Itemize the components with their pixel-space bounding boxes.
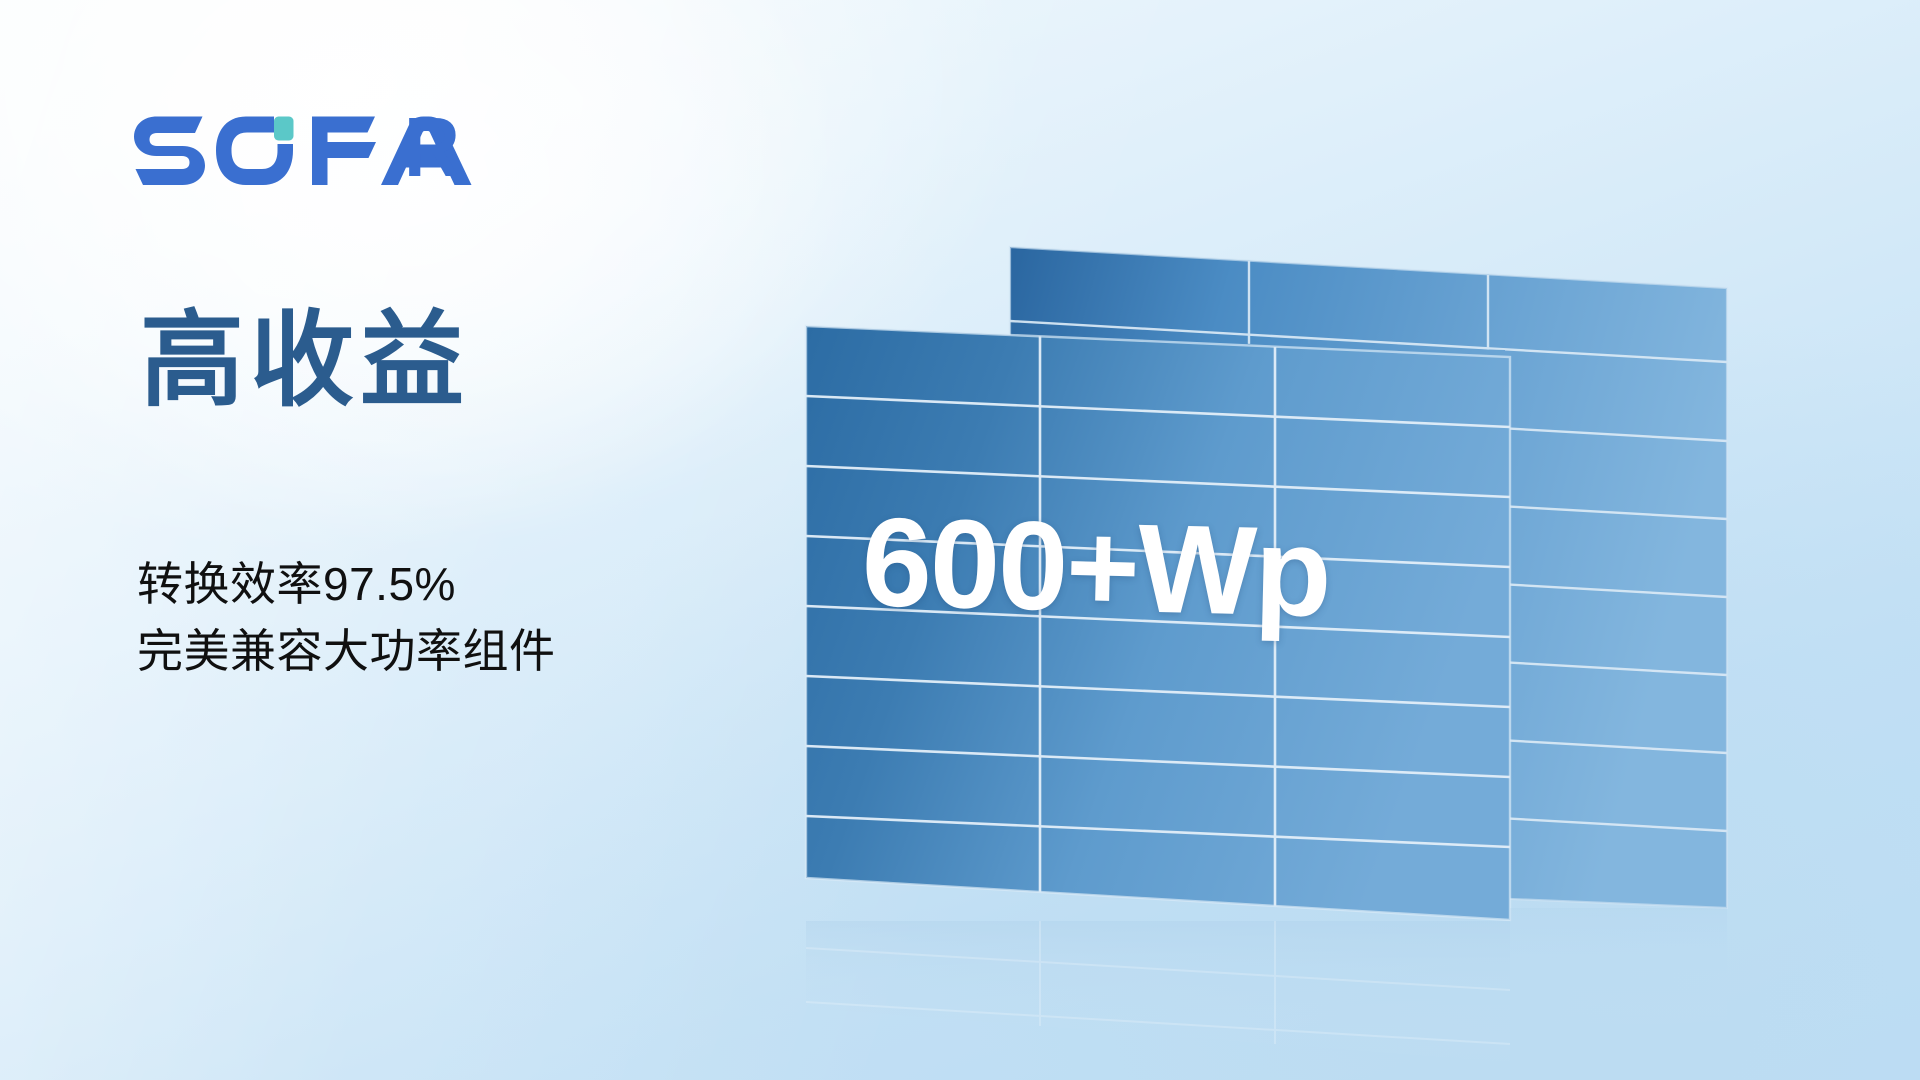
logo-letter-r: R xyxy=(404,105,460,189)
back-panel-reflection xyxy=(1510,908,1727,1035)
subcopy-line-1: 转换效率97.5% xyxy=(137,551,556,618)
poster-canvas: 600+Wp R 高收益 xyxy=(0,0,1920,1080)
panel-reflection xyxy=(806,878,1510,1075)
teal-square-notch-icon xyxy=(274,117,294,141)
subcopy-line-2: 完美兼容大功率组件 xyxy=(137,618,556,685)
page-headline: 高收益 xyxy=(140,306,470,416)
hero-caption-600wp: 600+Wp xyxy=(860,489,1331,645)
page-subcopy: 转换效率97.5% 完美兼容大功率组件 xyxy=(137,551,556,685)
